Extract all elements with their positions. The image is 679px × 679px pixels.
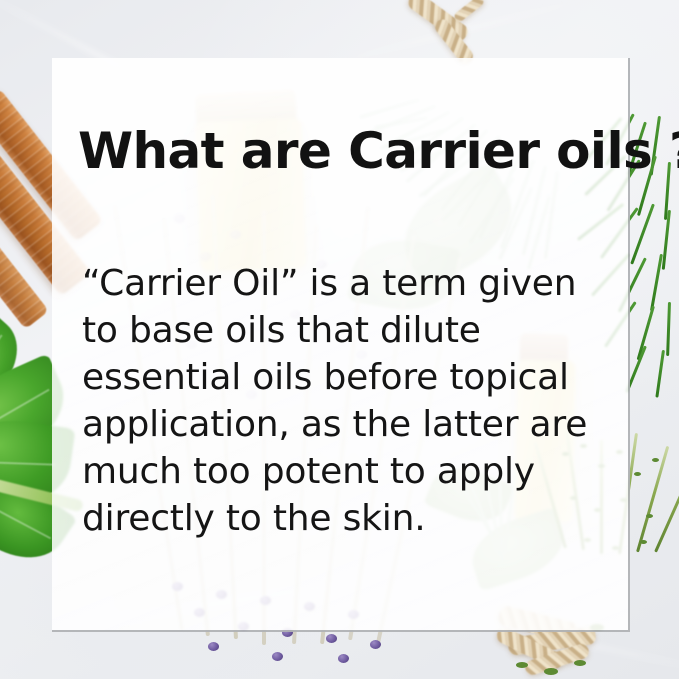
twine-tail [453,0,486,23]
body-line: directly to the skin. [82,495,622,542]
body-paragraph: “Carrier Oil” is a term given to base oi… [82,260,622,542]
page-title: What are Carrier oils ? [78,126,679,176]
body-line: much too potent to apply [82,448,622,495]
infographic-canvas: What are Carrier oils ? “Carrier Oil” is… [0,0,679,679]
body-line: to base oils that dilute [82,307,622,354]
content-card: What are Carrier oils ? “Carrier Oil” is… [52,58,630,632]
body-line: essential oils before topical [82,354,622,401]
body-line: application, as the latter are [82,401,622,448]
body-line: “Carrier Oil” is a term given [82,260,622,307]
